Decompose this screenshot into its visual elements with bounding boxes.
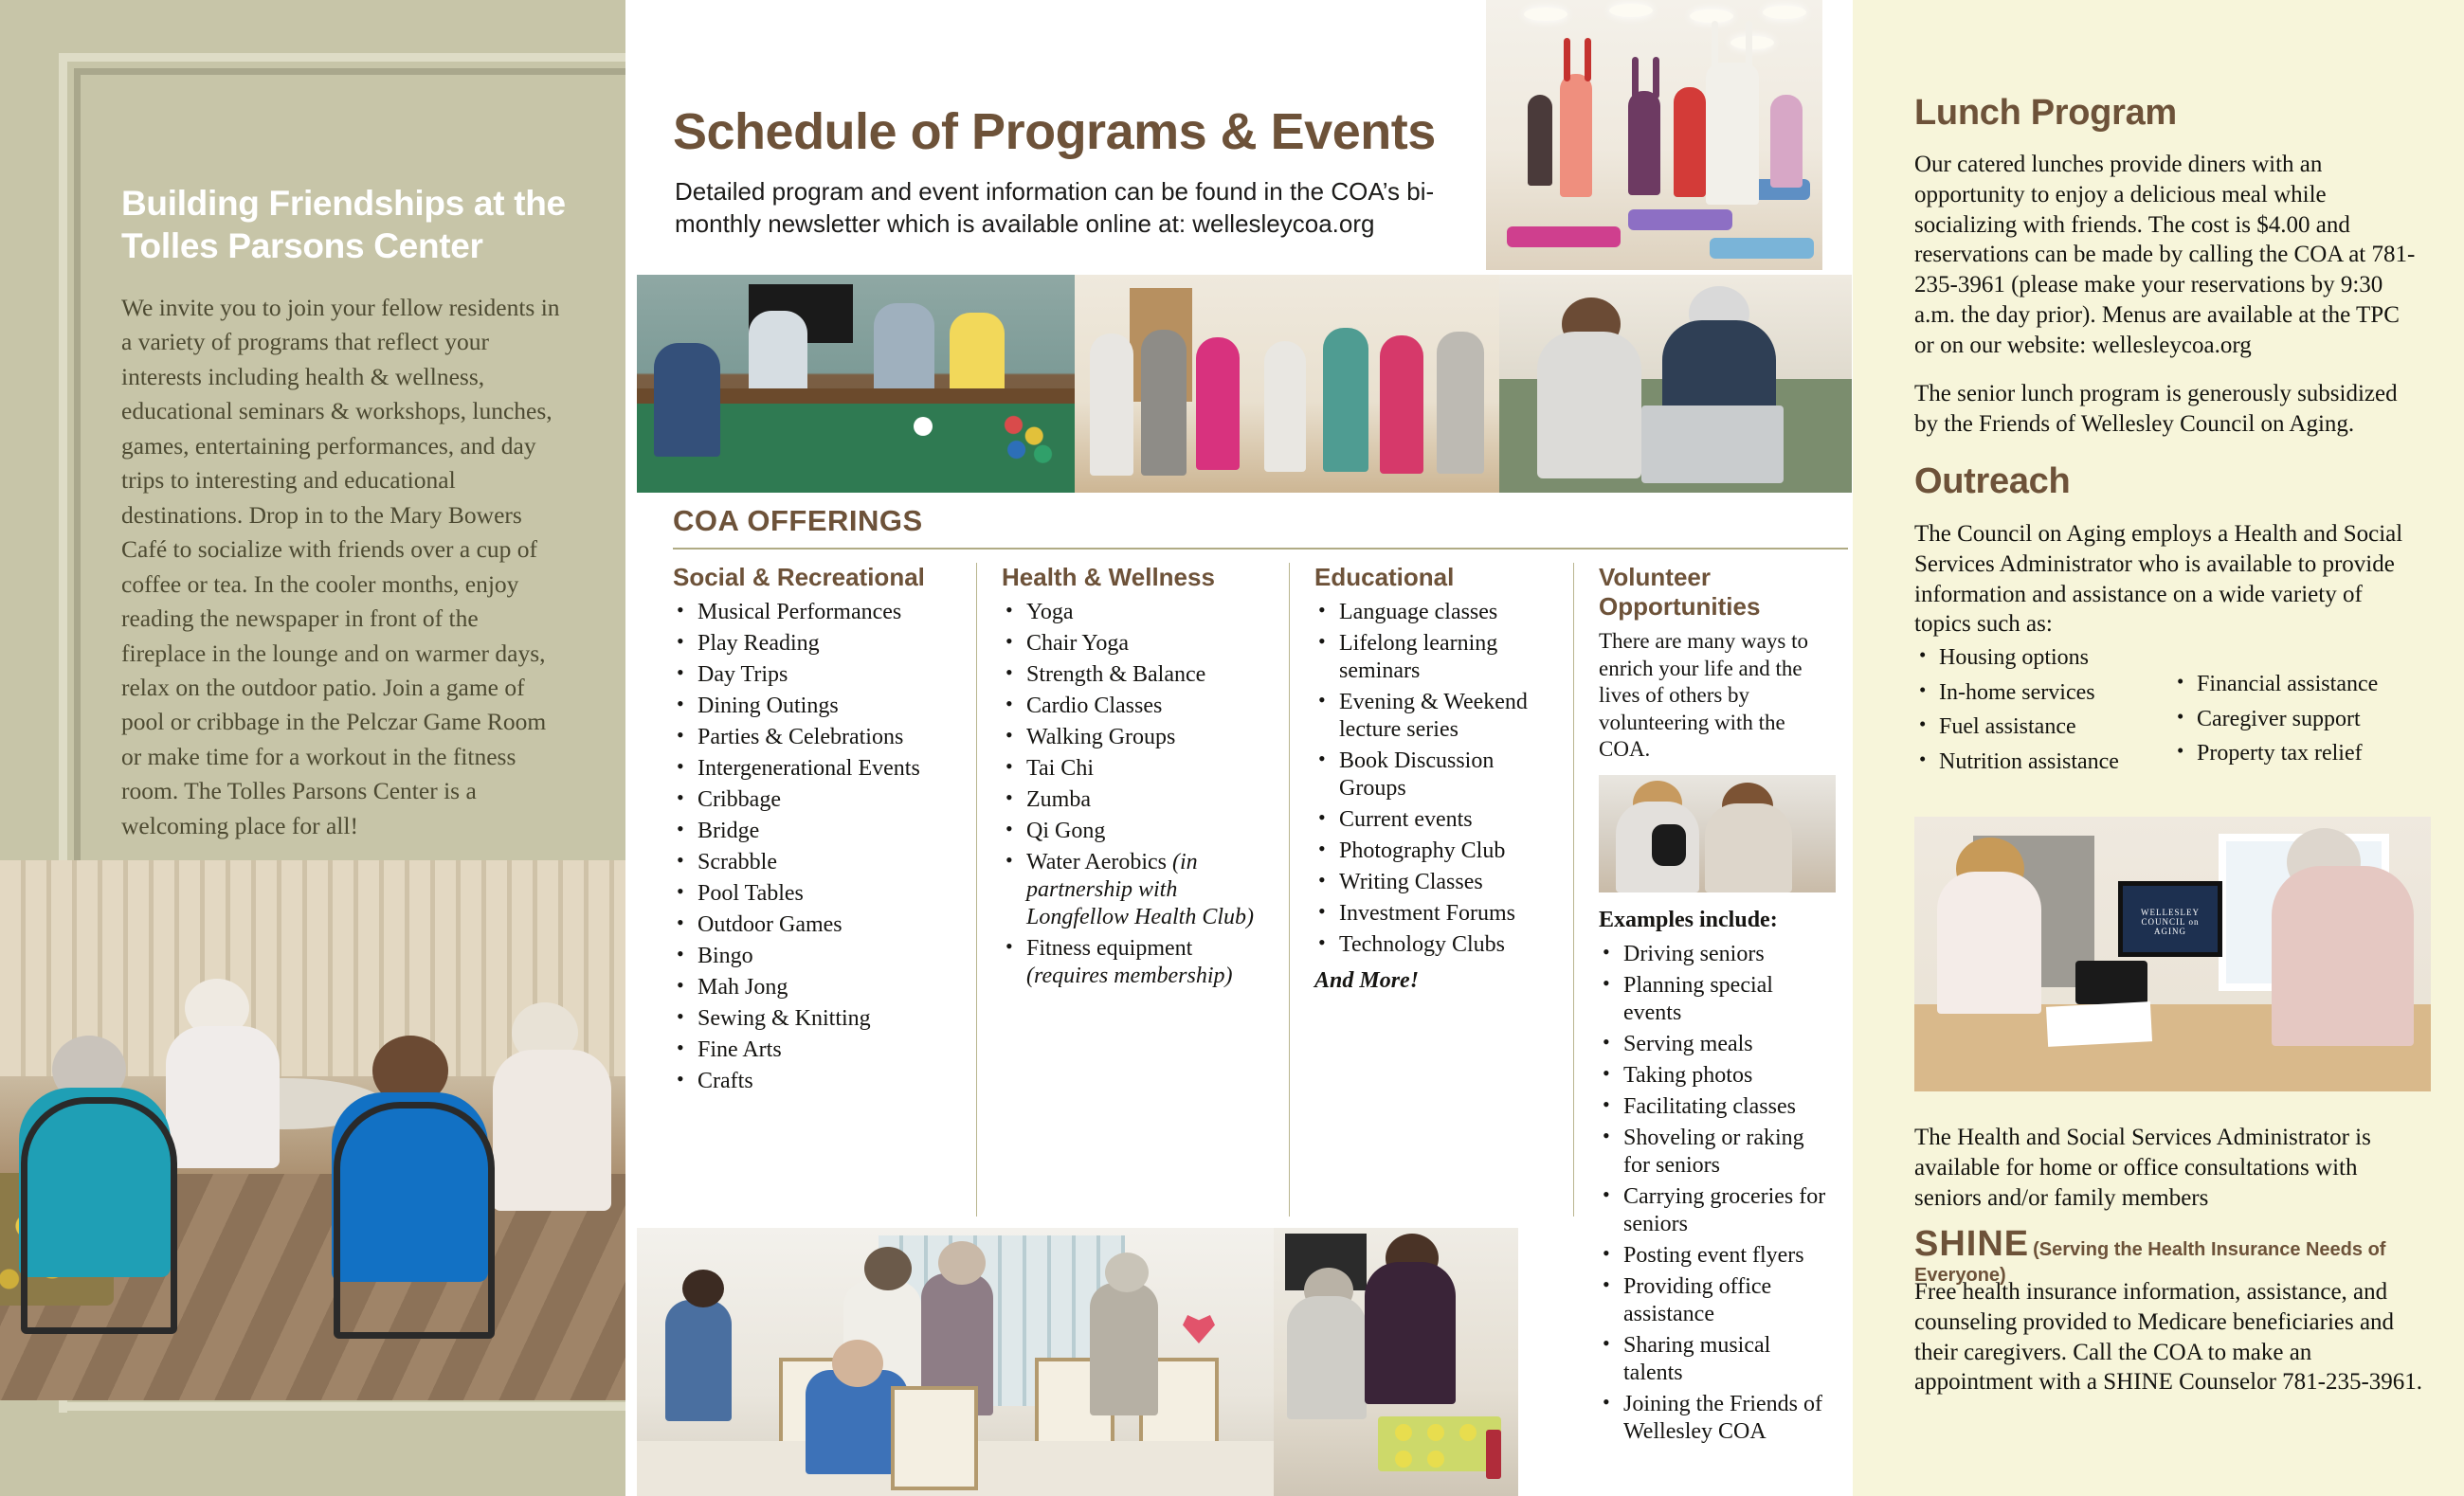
- list-item: Lifelong learning seminars: [1314, 630, 1552, 685]
- list-item: Property tax relief: [2172, 740, 2426, 768]
- list-item: Nutrition assistance: [1914, 748, 2172, 777]
- list-item: Photography Club: [1314, 838, 1552, 865]
- outreach-paragraph-1: The Council on Aging employs a Health an…: [1914, 519, 2417, 640]
- social-recreational-list: Musical Performances Play Reading Day Tr…: [673, 599, 955, 1096]
- list-item: Crafts: [673, 1068, 955, 1095]
- list-item: Driving seniors: [1599, 941, 1832, 968]
- list-item: Financial assistance: [2172, 671, 2426, 699]
- volunteers-photo: [1599, 775, 1836, 892]
- lunch-program-paragraph-2: The senior lunch program is generously s…: [1914, 379, 2421, 440]
- list-item: Yoga: [1002, 599, 1268, 626]
- left-panel-title: Building Friendships at the Tolles Parso…: [121, 182, 586, 267]
- list-item: Facilitating classes: [1599, 1093, 1832, 1121]
- left-panel-body: We invite you to join your fellow reside…: [121, 291, 565, 843]
- list-item: Investment Forums: [1314, 900, 1552, 928]
- list-item: Book Discussion Groups: [1314, 748, 1552, 802]
- list-item: Caregiver support: [2172, 706, 2426, 734]
- item-text: Fitness equipment: [1026, 936, 1192, 961]
- list-item: Planning special events: [1599, 972, 1832, 1027]
- page-title: Schedule of Programs & Events: [673, 104, 1459, 159]
- outreach-heading: Outreach: [1914, 461, 2070, 502]
- list-item: In-home services: [1914, 679, 2172, 708]
- list-item: Parties & Celebrations: [673, 724, 955, 751]
- list-item: Sewing & Knitting: [673, 1005, 955, 1033]
- lunch-program-heading: Lunch Program: [1914, 93, 2177, 134]
- list-item-with-note: Water Aerobics (in partnership with Long…: [1002, 849, 1268, 931]
- list-item: Day Trips: [673, 661, 955, 689]
- list-item: Cribbage: [673, 786, 955, 814]
- list-item: Musical Performances: [673, 599, 955, 626]
- list-item: Writing Classes: [1314, 869, 1552, 896]
- list-item: Providing office assistance: [1599, 1273, 1832, 1328]
- list-item: Strength & Balance: [1002, 661, 1268, 689]
- list-item: Serving meals: [1599, 1031, 1832, 1058]
- outreach-paragraph-2: The Health and Social Services Administr…: [1914, 1123, 2426, 1213]
- volunteer-examples-list: Driving seniors Planning special events …: [1599, 941, 1832, 1447]
- technology-help-photo: [1499, 275, 1852, 493]
- list-item: Cardio Classes: [1002, 693, 1268, 720]
- bottom-photo-strip: [637, 1228, 1518, 1496]
- list-item: Mah Jong: [673, 974, 955, 1001]
- art-class-easels-photo: [637, 1228, 1274, 1496]
- shine-acronym: SHINE: [1914, 1224, 2029, 1264]
- volunteer-intro: There are many ways to enrich your life …: [1599, 628, 1832, 764]
- list-item: Play Reading: [673, 630, 955, 658]
- list-item-with-note: Fitness equipment (requires membership): [1002, 935, 1268, 990]
- list-item: Intergenerational Events: [673, 755, 955, 783]
- list-item: Joining the Friends of Wellesley COA: [1599, 1391, 1832, 1446]
- list-item: Qi Gong: [1002, 818, 1268, 845]
- activity-photo-strip: [637, 275, 1852, 493]
- list-item: Walking Groups: [1002, 724, 1268, 751]
- educational-list: Language classes Lifelong learning semin…: [1314, 599, 1552, 959]
- column-heading: Health & Wellness: [1002, 563, 1268, 592]
- list-item: Outdoor Games: [673, 911, 955, 939]
- list-item: Pool Tables: [673, 880, 955, 908]
- item-note: (requires membership): [1026, 964, 1233, 988]
- craft-class-photo: [1274, 1228, 1518, 1496]
- column-health-wellness: Health & Wellness Yoga Chair Yoga Streng…: [976, 563, 1289, 1217]
- page-subtitle: Detailed program and event information c…: [675, 175, 1471, 241]
- office-consultation-photo: WELLESLEY COUNCIL on AGING: [1914, 817, 2431, 1091]
- list-item: Shoveling or raking for seniors: [1599, 1125, 1832, 1180]
- list-item: Evening & Weekend lecture series: [1314, 689, 1552, 744]
- list-item: Bridge: [673, 818, 955, 845]
- column-heading: Educational: [1314, 563, 1552, 592]
- outreach-topics-right: Financial assistance Caregiver support P…: [2172, 644, 2426, 783]
- list-item: Zumba: [1002, 786, 1268, 814]
- coa-offerings-rule: [673, 548, 1848, 550]
- column-heading: Volunteer Opportunities: [1599, 563, 1832, 622]
- shine-paragraph: Free health insurance information, assis…: [1914, 1277, 2431, 1397]
- lunch-program-paragraph-1: Our catered lunches provide diners with …: [1914, 150, 2417, 360]
- list-item: Technology Clubs: [1314, 931, 1552, 959]
- list-item: Fuel assistance: [1914, 713, 2172, 742]
- brochure-page: Building Friendships at the Tolles Parso…: [0, 0, 2464, 1496]
- decorative-frame-bottom-outer: [59, 1402, 627, 1411]
- list-item: Taking photos: [1599, 1062, 1832, 1090]
- outreach-topics: Housing options In-home services Fuel as…: [1914, 644, 2426, 783]
- coa-offerings-heading: COA OFFERINGS: [673, 504, 923, 538]
- yoga-class-photo: [1486, 0, 1822, 270]
- column-heading: Social & Recreational: [673, 563, 955, 592]
- dance-exercise-class-photo: [1075, 275, 1499, 493]
- list-item: Current events: [1314, 806, 1552, 834]
- list-item: Posting event flyers: [1599, 1242, 1832, 1270]
- monitor-logo-label: WELLESLEY COUNCIL on AGING: [2128, 908, 2213, 936]
- list-item: Chair Yoga: [1002, 630, 1268, 658]
- column-social-recreational: Social & Recreational Musical Performanc…: [673, 563, 976, 1217]
- list-item: Carrying groceries for seniors: [1599, 1183, 1832, 1238]
- list-item: Language classes: [1314, 599, 1552, 626]
- outreach-topics-left: Housing options In-home services Fuel as…: [1914, 644, 2172, 783]
- list-item: Fine Arts: [673, 1036, 955, 1064]
- examples-include-heading: Examples include:: [1599, 908, 1832, 933]
- list-item: Sharing musical talents: [1599, 1332, 1832, 1387]
- and-more-label: And More!: [1314, 968, 1552, 994]
- item-text: Water Aerobics: [1026, 850, 1167, 874]
- column-volunteer-opportunities: Volunteer Opportunities There are many w…: [1573, 563, 1853, 1217]
- list-item: Scrabble: [673, 849, 955, 876]
- pool-table-game-room-photo: [637, 275, 1075, 493]
- list-item: Tai Chi: [1002, 755, 1268, 783]
- offerings-columns: Social & Recreational Musical Performanc…: [673, 563, 1853, 1217]
- list-item: Housing options: [1914, 644, 2172, 673]
- column-educational: Educational Language classes Lifelong le…: [1289, 563, 1573, 1217]
- health-wellness-list: Yoga Chair Yoga Strength & Balance Cardi…: [1002, 599, 1268, 990]
- list-item: Dining Outings: [673, 693, 955, 720]
- list-item: Bingo: [673, 943, 955, 970]
- seniors-at-patio-table-photo: [0, 860, 625, 1400]
